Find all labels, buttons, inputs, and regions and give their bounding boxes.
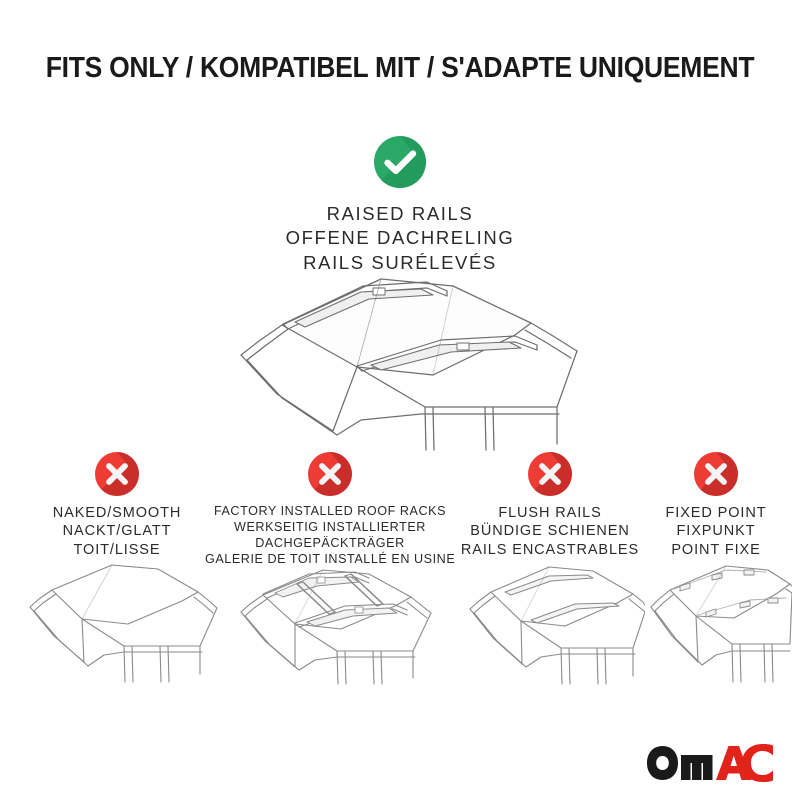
compatible-label-de: OFFENE DACHRELING xyxy=(0,226,800,250)
logo-letter-m xyxy=(681,755,713,780)
incompatible-label-en: FIXED POINT xyxy=(640,504,792,522)
logo-letter-o xyxy=(647,746,678,780)
incompatible-labels: FLUSH RAILS BÜNDIGE SCHIENEN RAILS ENCAS… xyxy=(455,504,645,559)
compatible-label-en: RAISED RAILS xyxy=(0,202,800,226)
car-roof-factory-installed-rack-illustration xyxy=(205,556,455,688)
cross-circle-icon xyxy=(694,452,738,496)
incompatible-label-de-2: DACHGEPÄCKTRÄGER xyxy=(205,536,455,552)
car-roof-with-raised-rails-illustration xyxy=(185,268,615,453)
incompatible-item-factory-rack: FACTORY INSTALLED ROOF RACKS WERKSEITIG … xyxy=(205,452,455,567)
incompatible-item-fixed-point: FIXED POINT FIXPUNKT POINT FIXE xyxy=(640,452,792,559)
cross-circle-icon xyxy=(528,452,572,496)
compatible-labels: RAISED RAILS OFFENE DACHRELING RAILS SUR… xyxy=(0,202,800,275)
incompatible-section: NAKED/SMOOTH NACKT/GLATT TOIT/LISSE xyxy=(0,452,800,702)
incompatible-item-flush-rails: FLUSH RAILS BÜNDIGE SCHIENEN RAILS ENCAS… xyxy=(455,452,645,559)
incompatible-label-de: NACKT/GLATT xyxy=(12,522,222,540)
omac-logo xyxy=(644,744,778,782)
incompatible-label-de: BÜNDIGE SCHIENEN xyxy=(455,522,645,540)
cross-circle-icon xyxy=(95,452,139,496)
car-roof-fixed-point-illustration xyxy=(640,556,792,688)
incompatible-label-de-1: WERKSEITIG INSTALLIERTER xyxy=(205,520,455,536)
car-roof-naked-smooth-illustration xyxy=(12,556,222,688)
incompatible-labels: NAKED/SMOOTH NACKT/GLATT TOIT/LISSE xyxy=(12,504,222,559)
incompatible-label-de: FIXPUNKT xyxy=(640,522,792,540)
compatible-section: RAISED RAILS OFFENE DACHRELING RAILS SUR… xyxy=(0,136,800,275)
incompatible-label-en: NAKED/SMOOTH xyxy=(12,504,222,522)
incompatible-item-naked-smooth: NAKED/SMOOTH NACKT/GLATT TOIT/LISSE xyxy=(12,452,222,559)
header: FITS ONLY / KOMPATIBEL MIT / S'ADAPTE UN… xyxy=(0,54,800,83)
cross-circle-icon xyxy=(308,452,352,496)
car-roof-flush-rails-illustration xyxy=(455,556,645,688)
page-title: FITS ONLY / KOMPATIBEL MIT / S'ADAPTE UN… xyxy=(28,54,772,83)
incompatible-label-en: FACTORY INSTALLED ROOF RACKS xyxy=(205,504,455,520)
incompatible-labels: FIXED POINT FIXPUNKT POINT FIXE xyxy=(640,504,792,559)
incompatible-label-en: FLUSH RAILS xyxy=(455,504,645,522)
check-circle-icon xyxy=(374,136,426,188)
